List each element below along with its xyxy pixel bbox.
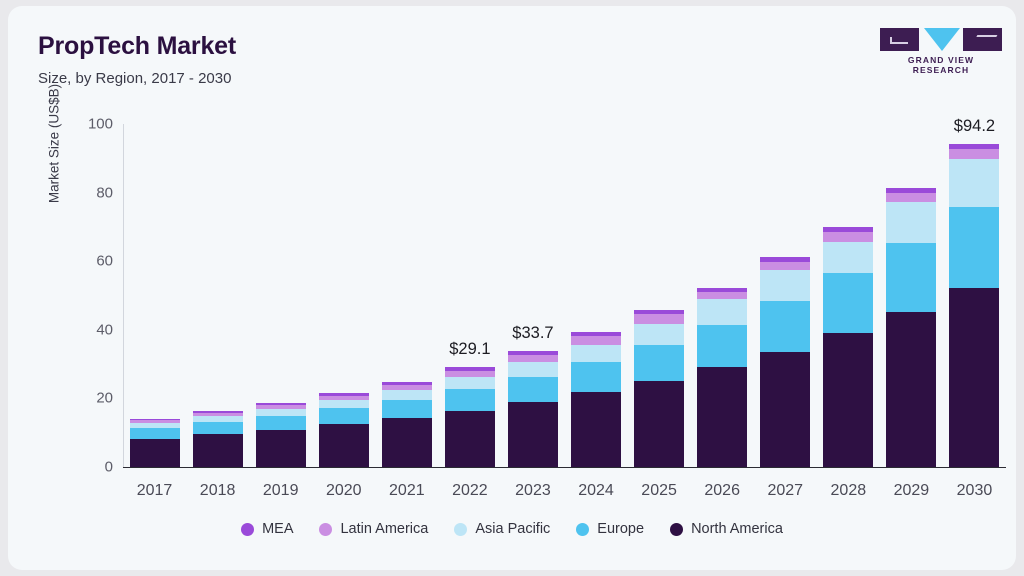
bar-segment-europe[interactable] [319,408,369,424]
bar-segment-asia-pacific[interactable] [697,299,747,325]
x-axis-tick-label: 2029 [894,482,930,500]
legend-item-mea[interactable]: MEA [241,521,293,537]
bar-segment-europe[interactable] [193,422,243,434]
bar-segment-europe[interactable] [382,400,432,419]
bar-segment-north-america[interactable] [382,418,432,467]
legend-item-latin-america[interactable]: Latin America [319,521,428,537]
x-axis-tick-label: 2023 [515,482,551,500]
bar-segment-asia-pacific[interactable] [193,416,243,422]
bar-segment-asia-pacific[interactable] [823,242,873,273]
bar-segment-latin-america[interactable] [697,292,747,299]
y-axis-tick-label: 0 [53,459,113,476]
bar-2019[interactable] [256,403,306,467]
bar-segment-mea[interactable] [445,367,495,371]
legend-label: MEA [262,521,293,537]
y-axis-tick-label: 40 [53,321,113,338]
x-axis-tick-label: 2018 [200,482,236,500]
bar-2023[interactable]: $33.7 [508,351,558,467]
bar-2022[interactable]: $29.1 [445,367,495,467]
bar-segment-latin-america[interactable] [382,385,432,390]
bar-segment-europe[interactable] [634,345,684,380]
bar-segment-latin-america[interactable] [760,262,810,271]
bar-segment-mea[interactable] [319,393,369,395]
legend-label: Europe [597,521,644,537]
bar-segment-north-america[interactable] [319,424,369,467]
bar-2018[interactable] [193,411,243,467]
bar-2021[interactable] [382,382,432,467]
logo-text: GRAND VIEW RESEARCH [880,55,1002,75]
logo-g-glyph-icon [890,37,908,44]
bar-2026[interactable] [697,288,747,467]
bar-segment-europe[interactable] [445,389,495,411]
logo-r-glyph-icon [973,35,998,44]
x-axis-tick-label: 2030 [957,482,993,500]
legend-label: North America [691,521,783,537]
legend-swatch-icon [319,523,332,536]
bar-segment-europe[interactable] [697,325,747,367]
bar-2027[interactable] [760,257,810,467]
bar-segment-europe[interactable] [949,207,999,288]
bar-segment-asia-pacific[interactable] [382,390,432,400]
legend-item-asia-pacific[interactable]: Asia Pacific [454,521,550,537]
page-subtitle: Size, by Region, 2017 - 2030 [38,70,231,87]
bar-segment-latin-america[interactable] [193,413,243,416]
x-axis-baseline [123,467,1006,468]
bar-segment-north-america[interactable] [193,434,243,467]
bar-segment-north-america[interactable] [256,430,306,467]
legend-swatch-icon [576,523,589,536]
bar-segment-mea[interactable] [193,411,243,413]
x-axis-tick-label: 2019 [263,482,299,500]
legend-swatch-icon [454,523,467,536]
bar-segment-mea[interactable] [949,144,999,149]
bar-segment-mea[interactable] [130,419,180,420]
y-axis-tick-label: 60 [53,253,113,270]
x-axis-tick-label: 2017 [137,482,173,500]
bar-2025[interactable] [634,310,684,467]
grand-view-research-logo: GRAND VIEW RESEARCH [880,28,1002,68]
bar-2030[interactable]: $94.2 [949,144,999,467]
legend-item-europe[interactable]: Europe [576,521,644,537]
logo-v-triangle-icon [924,28,960,51]
x-axis-tick-label: 2026 [704,482,740,500]
logo-g-box [880,28,919,51]
bar-segment-north-america[interactable] [823,333,873,467]
bar-segment-asia-pacific[interactable] [508,362,558,376]
y-axis-tick-label: 100 [53,116,113,133]
bar-segment-asia-pacific[interactable] [634,324,684,345]
bar-segment-north-america[interactable] [508,402,558,467]
legend-label: Asia Pacific [475,521,550,537]
bar-segment-latin-america[interactable] [949,149,999,159]
bar-segment-mea[interactable] [382,382,432,385]
bar-segment-asia-pacific[interactable] [256,409,306,416]
bar-segment-latin-america[interactable] [319,396,369,400]
bar-segment-north-america[interactable] [760,352,810,467]
bar-segment-latin-america[interactable] [886,193,936,202]
bar-segment-mea[interactable] [886,188,936,193]
bar-segment-mea[interactable] [634,310,684,314]
page-title: PropTech Market [38,32,236,61]
bar-value-label: $29.1 [449,340,490,359]
bar-segment-asia-pacific[interactable] [886,202,936,243]
logo-marks [880,28,1002,51]
bar-segment-asia-pacific[interactable] [571,345,621,362]
bar-segment-mea[interactable] [571,332,621,336]
legend-swatch-icon [241,523,254,536]
bar-segment-latin-america[interactable] [508,355,558,362]
y-axis-tick-label: 20 [53,390,113,407]
x-axis-tick-label: 2022 [452,482,488,500]
bar-segment-latin-america[interactable] [130,420,180,423]
bar-segment-north-america[interactable] [634,381,684,467]
bar-segment-north-america[interactable] [130,439,180,467]
bar-segment-europe[interactable] [571,362,621,392]
bar-2024[interactable] [571,332,621,467]
bar-segment-mea[interactable] [508,351,558,355]
bar-segment-asia-pacific[interactable] [949,159,999,207]
bar-segment-mea[interactable] [256,403,306,405]
chart-legend: MEALatin AmericaAsia PacificEuropeNorth … [8,521,1016,537]
bar-segment-europe[interactable] [130,428,180,439]
legend-swatch-icon [670,523,683,536]
bar-segment-north-america[interactable] [949,288,999,467]
bar-segment-latin-america[interactable] [445,371,495,377]
x-axis-tick-label: 2024 [578,482,614,500]
bar-segment-europe[interactable] [823,273,873,333]
bar-segment-asia-pacific[interactable] [130,423,180,428]
x-axis-tick-label: 2025 [641,482,677,500]
bar-2020[interactable] [319,393,369,467]
bar-segment-asia-pacific[interactable] [445,377,495,389]
bar-value-label: $94.2 [954,117,995,136]
x-axis-tick-label: 2028 [831,482,867,500]
bar-segment-mea[interactable] [760,257,810,261]
bar-segment-mea[interactable] [823,227,873,232]
bar-segment-mea[interactable] [697,288,747,292]
bar-segment-north-america[interactable] [445,411,495,467]
legend-label: Latin America [340,521,428,537]
chart-card: PropTech Market Size, by Region, 2017 - … [8,6,1016,570]
bar-2028[interactable] [823,227,873,467]
bar-segment-north-america[interactable] [886,312,936,467]
bar-segment-europe[interactable] [760,301,810,351]
y-axis-tick-label: 80 [53,184,113,201]
logo-r-box [963,28,1002,51]
bar-segment-north-america[interactable] [697,367,747,467]
bar-segment-latin-america[interactable] [634,314,684,324]
bar-2017[interactable] [130,419,180,467]
bar-segment-europe[interactable] [886,243,936,312]
bar-segment-latin-america[interactable] [256,405,306,409]
bar-segment-latin-america[interactable] [571,336,621,345]
legend-item-north-america[interactable]: North America [670,521,783,537]
x-axis-tick-label: 2020 [326,482,362,500]
x-axis-tick-label: 2021 [389,482,425,500]
bar-segment-europe[interactable] [508,377,558,402]
y-axis-title: Market Size (US$B) [47,44,62,244]
bar-segment-asia-pacific[interactable] [319,400,369,408]
bar-value-label: $33.7 [512,324,553,343]
plot-area: $29.1$33.7$94.2 [123,124,1006,467]
bar-segment-europe[interactable] [256,416,306,430]
bar-segment-north-america[interactable] [571,392,621,467]
bar-segment-asia-pacific[interactable] [760,270,810,301]
bar-segment-latin-america[interactable] [823,232,873,242]
x-axis-tick-label: 2027 [767,482,803,500]
bar-2029[interactable] [886,188,936,467]
